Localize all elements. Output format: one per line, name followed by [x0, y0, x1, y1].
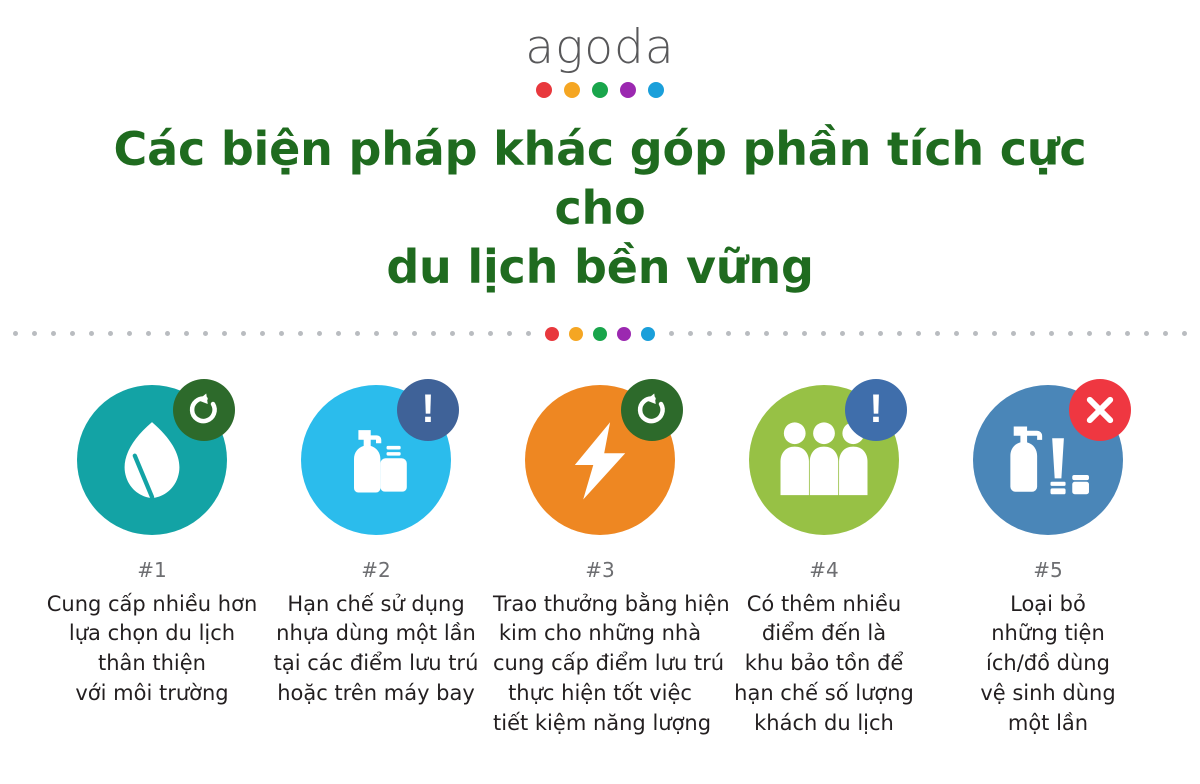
card-caption-line: Loại bỏ — [941, 590, 1155, 620]
card-caption-line: Trao thưởng bằng hiện — [493, 590, 707, 620]
divider-gray-dot — [1011, 331, 1016, 336]
card-caption-line: những tiện — [941, 619, 1155, 649]
icon-group-1 — [77, 385, 227, 535]
divider-gray-dot — [1068, 331, 1073, 336]
exclamation-icon: ! — [397, 379, 459, 441]
divider-gray-dot — [13, 331, 18, 336]
divider-gray-dot — [1144, 331, 1149, 336]
divider-gray-dot — [878, 331, 883, 336]
icon-group-5 — [973, 385, 1123, 535]
divider-dot-amber — [569, 327, 583, 341]
divider-gray-dot — [935, 331, 940, 336]
divider-gray-dot — [89, 331, 94, 336]
divider-gray-dot — [51, 331, 56, 336]
divider-color-dots — [545, 327, 655, 341]
divider-gray-dot — [954, 331, 959, 336]
card-caption-line: Có thêm nhiều — [717, 590, 931, 620]
card-caption-line: lựa chọn du lịch — [45, 619, 259, 649]
divider-gray-dot — [1163, 331, 1168, 336]
card-caption-line: nhựa dùng một lần — [269, 619, 483, 649]
measure-card-5: #5Loại bỏnhững tiệních/đồ dùngvệ sinh dù… — [936, 385, 1160, 739]
decorative-divider — [100, 325, 1100, 343]
card-caption-2: Hạn chế sử dụngnhựa dùng một lầntại các … — [269, 590, 483, 709]
divider-gray-dot — [450, 331, 455, 336]
divider-gray-dot — [840, 331, 845, 336]
brand-dot-red — [536, 82, 552, 98]
page-title: Các biện pháp khác góp phần tích cực cho… — [100, 120, 1100, 297]
measure-card-3: #3Trao thưởng bằng hiệnkim cho những nhà… — [488, 385, 712, 739]
divider-gray-dot — [241, 331, 246, 336]
divider-gray-dots-right — [655, 331, 1187, 336]
card-caption-line: Hạn chế sử dụng — [269, 590, 483, 620]
card-caption-line: với môi trường — [45, 679, 259, 709]
card-caption-line: cung cấp điểm lưu trú — [493, 649, 707, 679]
card-caption-4: Có thêm nhiềuđiểm đến làkhu bảo tồn đểhạ… — [717, 590, 931, 739]
divider-gray-dot — [374, 331, 379, 336]
divider-gray-dot — [431, 331, 436, 336]
divider-gray-dot — [393, 331, 398, 336]
exclamation-mark: ! — [869, 389, 882, 429]
measure-card-2: !#2Hạn chế sử dụngnhựa dùng một lầntại c… — [264, 385, 488, 709]
brand-dot-green — [592, 82, 608, 98]
card-number-3: #3 — [585, 559, 614, 581]
divider-gray-dot — [412, 331, 417, 336]
divider-gray-dot — [1125, 331, 1130, 336]
brand-dot-purple — [620, 82, 636, 98]
divider-gray-dot — [821, 331, 826, 336]
divider-gray-dot — [1049, 331, 1054, 336]
icon-group-3 — [525, 385, 675, 535]
card-caption-line: vệ sinh dùng — [941, 679, 1155, 709]
divider-gray-dot — [488, 331, 493, 336]
divider-gray-dot — [859, 331, 864, 336]
measure-card-4: !#4Có thêm nhiềuđiểm đến làkhu bảo tồn đ… — [712, 385, 936, 739]
divider-dot-green — [593, 327, 607, 341]
divider-gray-dot — [1087, 331, 1092, 336]
card-caption-line: thân thiện — [45, 649, 259, 679]
divider-gray-dot — [260, 331, 265, 336]
divider-gray-dot — [165, 331, 170, 336]
exclamation-mark: ! — [421, 389, 434, 429]
refresh-arrow-icon — [173, 379, 235, 441]
divider-gray-dots-left — [13, 331, 545, 336]
divider-gray-dot — [317, 331, 322, 336]
divider-gray-dot — [32, 331, 37, 336]
card-caption-5: Loại bỏnhững tiệních/đồ dùngvệ sinh dùng… — [941, 590, 1155, 739]
brand-dot-amber — [564, 82, 580, 98]
divider-gray-dot — [222, 331, 227, 336]
divider-gray-dot — [783, 331, 788, 336]
card-caption-line: khách du lịch — [717, 709, 931, 739]
card-caption-line: Cung cấp nhiều hơn — [45, 590, 259, 620]
divider-gray-dot — [108, 331, 113, 336]
card-caption-line: kim cho những nhà — [493, 619, 707, 649]
close-x-icon — [1069, 379, 1131, 441]
divider-gray-dot — [355, 331, 360, 336]
divider-gray-dot — [469, 331, 474, 336]
page-title-line-2: du lịch bền vững — [100, 238, 1100, 297]
card-number-4: #4 — [809, 559, 838, 581]
divider-gray-dot — [279, 331, 284, 336]
divider-gray-dot — [707, 331, 712, 336]
divider-gray-dot — [992, 331, 997, 336]
refresh-arrow-icon — [621, 379, 683, 441]
divider-gray-dot — [146, 331, 151, 336]
divider-dot-purple — [617, 327, 631, 341]
card-caption-line: hoặc trên máy bay — [269, 679, 483, 709]
brand-dot-blue — [648, 82, 664, 98]
card-caption-line: hạn chế số lượng — [717, 679, 931, 709]
page-title-line-1: Các biện pháp khác góp phần tích cực cho — [100, 120, 1100, 238]
card-caption-line: một lần — [941, 709, 1155, 739]
icon-group-4: ! — [749, 385, 899, 535]
divider-gray-dot — [688, 331, 693, 336]
divider-gray-dot — [507, 331, 512, 336]
divider-gray-dot — [916, 331, 921, 336]
card-caption-line: khu bảo tồn để — [717, 649, 931, 679]
card-number-5: #5 — [1033, 559, 1062, 581]
card-caption-3: Trao thưởng bằng hiệnkim cho những nhàcu… — [493, 590, 707, 739]
divider-gray-dot — [897, 331, 902, 336]
card-number-1: #1 — [137, 559, 166, 581]
divider-gray-dot — [526, 331, 531, 336]
card-caption-line: điểm đến là — [717, 619, 931, 649]
card-caption-line: tại các điểm lưu trú — [269, 649, 483, 679]
divider-gray-dot — [973, 331, 978, 336]
exclamation-icon: ! — [845, 379, 907, 441]
measures-card-row: #1Cung cấp nhiều hơnlựa chọn du lịchthân… — [0, 385, 1200, 739]
divider-gray-dot — [745, 331, 750, 336]
divider-gray-dot — [726, 331, 731, 336]
divider-gray-dot — [1182, 331, 1187, 336]
divider-dot-red — [545, 327, 559, 341]
card-caption-line: tiết kiệm năng lượng — [493, 709, 707, 739]
agoda-wordmark: agoda — [0, 24, 1200, 71]
brand-header: agoda — [0, 0, 1200, 98]
divider-dot-blue — [641, 327, 655, 341]
card-caption-line: thực hiện tốt việc — [493, 679, 707, 709]
card-caption-1: Cung cấp nhiều hơnlựa chọn du lịchthân t… — [45, 590, 259, 709]
divider-gray-dot — [802, 331, 807, 336]
measure-card-1: #1Cung cấp nhiều hơnlựa chọn du lịchthân… — [40, 385, 264, 709]
divider-gray-dot — [298, 331, 303, 336]
divider-gray-dot — [336, 331, 341, 336]
divider-gray-dot — [203, 331, 208, 336]
divider-gray-dot — [764, 331, 769, 336]
card-number-2: #2 — [361, 559, 390, 581]
icon-group-2: ! — [301, 385, 451, 535]
card-caption-line: ích/đồ dùng — [941, 649, 1155, 679]
divider-gray-dot — [1106, 331, 1111, 336]
divider-gray-dot — [127, 331, 132, 336]
divider-gray-dot — [184, 331, 189, 336]
divider-gray-dot — [1030, 331, 1035, 336]
divider-gray-dot — [669, 331, 674, 336]
divider-gray-dot — [70, 331, 75, 336]
brand-dot-row — [0, 82, 1200, 98]
